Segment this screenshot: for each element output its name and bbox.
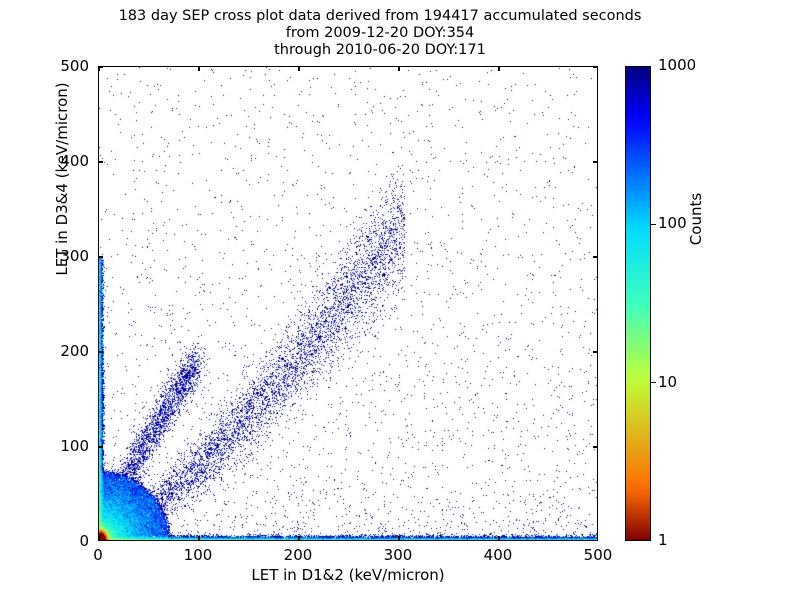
y-tick-label-300: 300 bbox=[29, 247, 89, 265]
x-tick-label-200: 200 bbox=[268, 546, 328, 564]
y-tick-right-500 bbox=[593, 66, 598, 67]
colorbar bbox=[625, 66, 651, 541]
colorbar-tick-10 bbox=[651, 382, 656, 383]
x-tick-0 bbox=[98, 536, 99, 541]
y-tick-label-0: 0 bbox=[29, 532, 89, 550]
chart-title: 183 day SEP cross plot data derived from… bbox=[0, 8, 760, 59]
colorbar-tick-100 bbox=[651, 224, 656, 225]
y-tick-200 bbox=[98, 351, 103, 352]
x-tick-top-400 bbox=[498, 66, 499, 71]
y-tick-right-400 bbox=[593, 161, 598, 162]
x-tick-label-400: 400 bbox=[468, 546, 528, 564]
y-tick-label-100: 100 bbox=[29, 437, 89, 455]
y-tick-right-300 bbox=[593, 256, 598, 257]
scatter-data-layer bbox=[99, 67, 598, 541]
x-tick-300 bbox=[398, 536, 399, 541]
y-tick-right-200 bbox=[593, 351, 598, 352]
chart-title-line-2: from 2009-12-20 DOY:354 bbox=[0, 25, 760, 42]
x-axis-title: LET in D1&2 (keV/micron) bbox=[98, 566, 598, 584]
y-tick-label-400: 400 bbox=[29, 152, 89, 170]
x-tick-100 bbox=[198, 536, 199, 541]
colorbar-gradient bbox=[626, 67, 650, 540]
x-tick-label-100: 100 bbox=[168, 546, 228, 564]
colorbar-tick-label-1: 1 bbox=[658, 531, 668, 549]
colorbar-tick-label-10: 10 bbox=[658, 373, 677, 391]
y-tick-300 bbox=[98, 256, 103, 257]
y-tick-label-200: 200 bbox=[29, 342, 89, 360]
y-tick-100 bbox=[98, 446, 103, 447]
x-tick-label-500: 500 bbox=[568, 546, 628, 564]
y-tick-500 bbox=[98, 66, 103, 67]
x-tick-top-300 bbox=[398, 66, 399, 71]
x-tick-top-100 bbox=[198, 66, 199, 71]
y-tick-label-500: 500 bbox=[29, 57, 89, 75]
x-tick-top-200 bbox=[298, 66, 299, 71]
y-tick-400 bbox=[98, 161, 103, 162]
colorbar-tick-label-100: 100 bbox=[658, 214, 687, 232]
colorbar-title: Counts bbox=[687, 119, 705, 319]
x-tick-label-300: 300 bbox=[368, 546, 428, 564]
colorbar-tick-label-1000: 1000 bbox=[658, 56, 696, 74]
chart-title-line-1: 183 day SEP cross plot data derived from… bbox=[0, 8, 760, 25]
x-tick-400 bbox=[498, 536, 499, 541]
chart-title-line-3: through 2010-06-20 DOY:171 bbox=[0, 42, 760, 59]
x-tick-200 bbox=[298, 536, 299, 541]
scatter-plot-area bbox=[98, 66, 598, 541]
y-tick-right-100 bbox=[593, 446, 598, 447]
